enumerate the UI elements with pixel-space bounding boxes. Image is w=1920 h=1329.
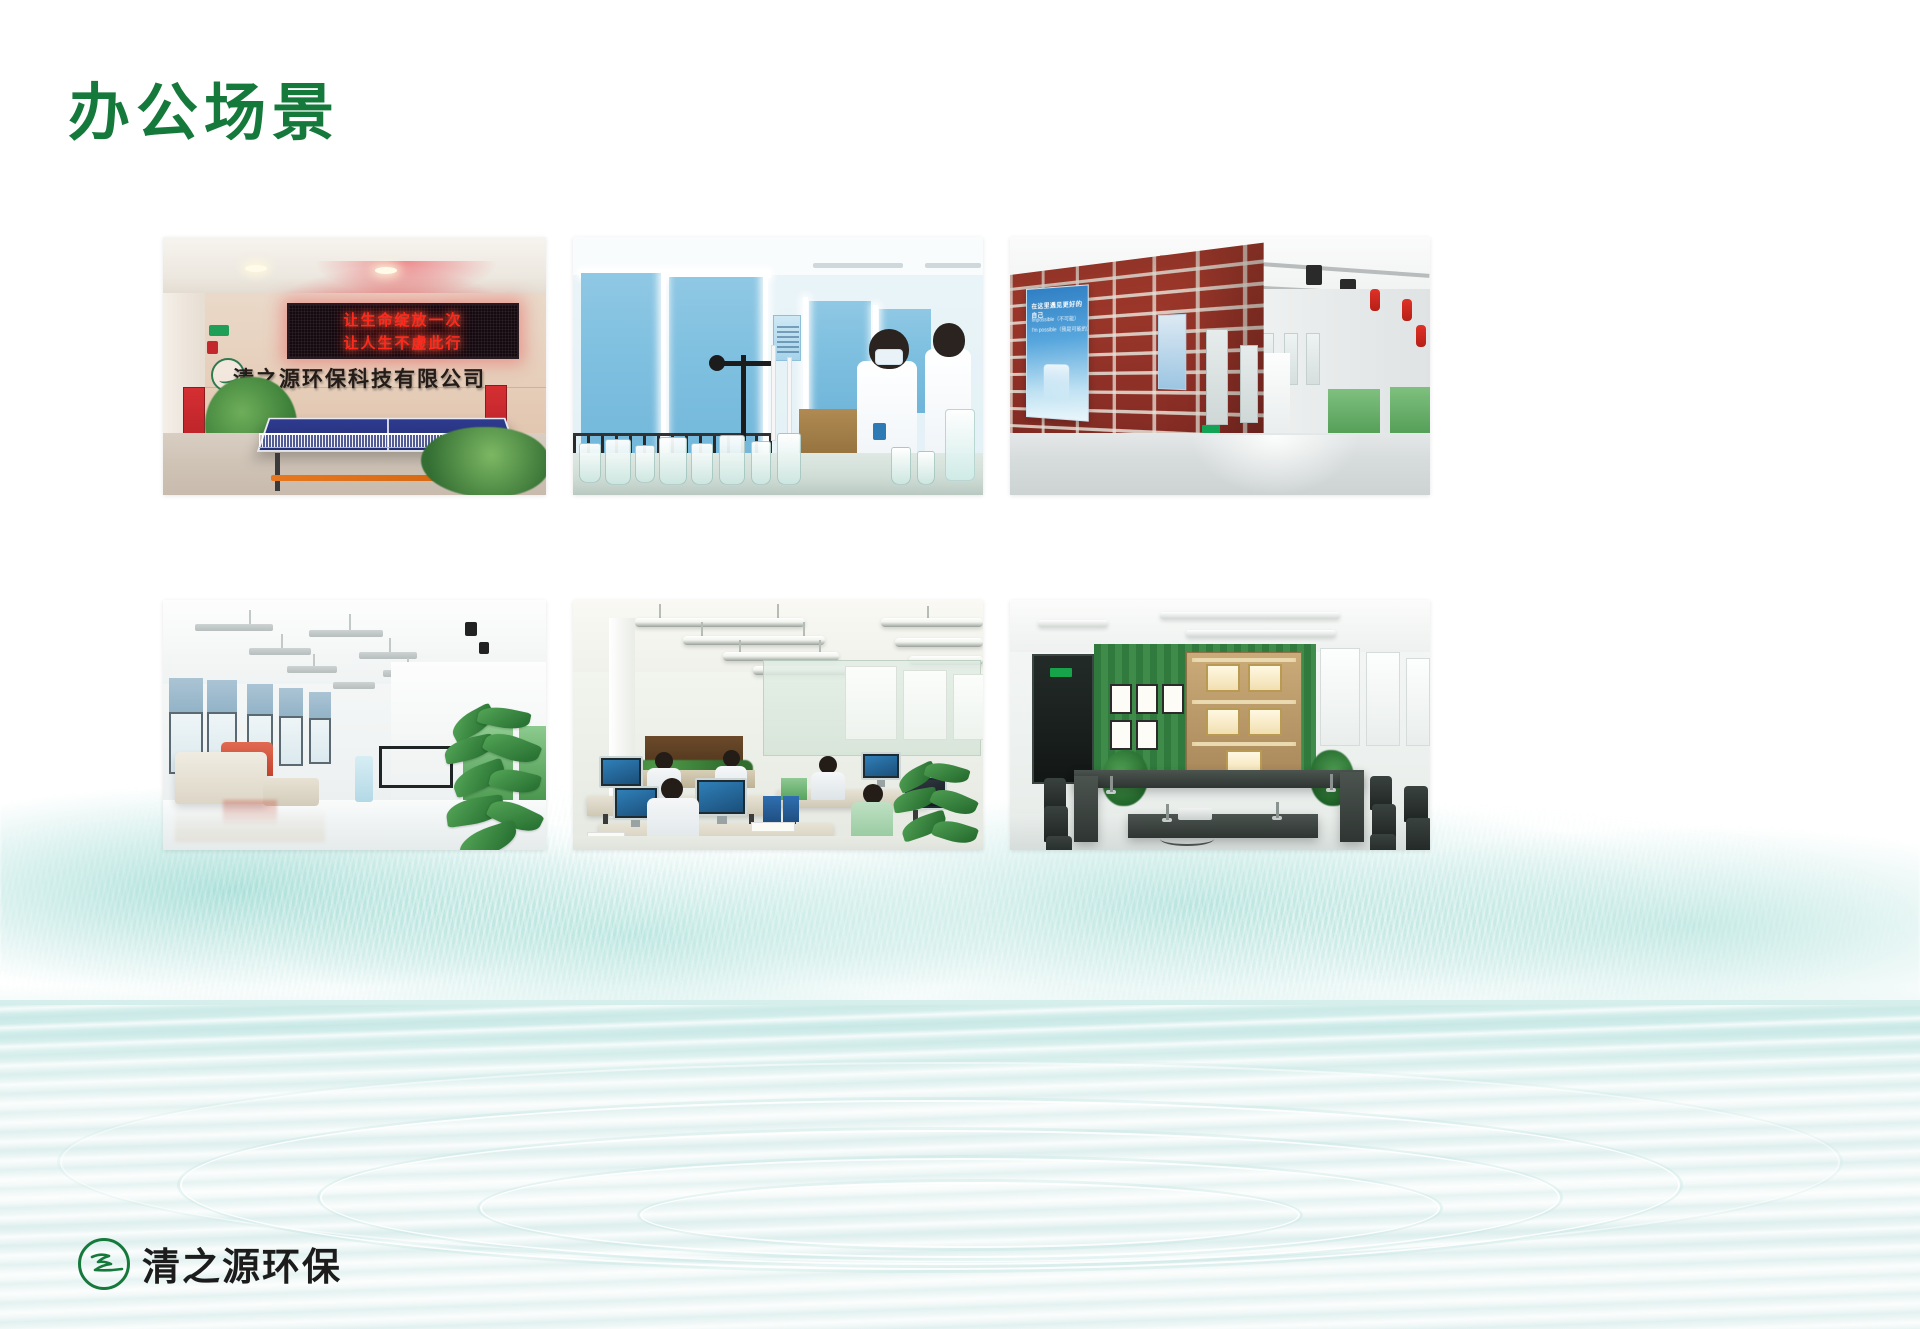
certificate-plaque xyxy=(1248,708,1282,736)
gallery-photo-lobby-led-sign[interactable]: 让生命绽放一次 让人生不虚此行 清之源环保科技有限公司 xyxy=(163,237,546,495)
pendant-light xyxy=(895,638,983,647)
desk-microphone xyxy=(1330,774,1333,790)
retort-stand-pole xyxy=(741,355,746,441)
red-lantern-decor xyxy=(1370,289,1380,311)
exit-sign-icon xyxy=(1050,668,1072,677)
ceiling-light-bar xyxy=(1160,612,1340,619)
lamp-stem xyxy=(739,640,741,652)
office-chair xyxy=(1406,818,1430,850)
id-badge xyxy=(873,423,886,440)
led-line-2: 让人生不虚此行 xyxy=(343,332,462,353)
gallery-photo-conference-room[interactable] xyxy=(1010,600,1430,850)
lab-glassware xyxy=(579,443,601,483)
lab-glassware xyxy=(777,433,801,485)
conference-projector xyxy=(1178,808,1212,820)
file-binder xyxy=(763,796,781,822)
motivational-poster[interactable]: 在这里遇见更好的自己 Impossible（不可能） I'm possible（… xyxy=(1026,284,1089,421)
acoustic-panel xyxy=(287,666,337,673)
photo-gallery-grid: 让生命绽放一次 让人生不虚此行 清之源环保科技有限公司 xyxy=(163,237,1446,850)
conference-window xyxy=(1366,652,1400,746)
office-window xyxy=(903,670,947,740)
face-mask-icon xyxy=(875,349,903,365)
lab-white-rod xyxy=(787,357,792,441)
poster-figure xyxy=(1044,364,1069,400)
acoustic-panel xyxy=(249,648,311,655)
person-head xyxy=(723,750,740,767)
poster-line-2: I'm possible（我是可能的） xyxy=(1032,325,1089,334)
large-potted-plant xyxy=(442,708,546,850)
ceiling-downlight-icon xyxy=(375,267,397,274)
track-spotlight-icon xyxy=(479,642,489,654)
led-scrolling-sign: 让生命绽放一次 让人生不虚此行 xyxy=(287,303,519,359)
desk-microphone xyxy=(1276,802,1279,818)
framed-certificate xyxy=(1110,720,1132,750)
corridor-door xyxy=(1240,345,1258,423)
lab-glassware xyxy=(691,443,713,485)
computer-monitor-front xyxy=(695,778,747,816)
red-lantern-decor xyxy=(1402,299,1412,321)
table-leg xyxy=(275,453,280,491)
potted-plant xyxy=(421,427,546,495)
lamp-stem xyxy=(659,604,661,618)
poster-line-1: Impossible（不可能） xyxy=(1032,315,1080,324)
lamp-stem xyxy=(927,606,929,618)
framed-certificate xyxy=(1136,720,1158,750)
lab-glassware xyxy=(751,441,771,485)
lamp-stem xyxy=(777,604,779,618)
water-dispenser xyxy=(355,756,373,802)
lab-notice-poster xyxy=(773,315,801,361)
computer-monitor xyxy=(599,756,643,788)
ceiling-light-bar xyxy=(1038,620,1108,627)
person-head xyxy=(933,323,965,357)
cabinet-shelf xyxy=(1192,700,1296,704)
floor-cable xyxy=(1160,832,1214,846)
exit-sign-icon xyxy=(1202,425,1220,433)
corridor-window xyxy=(279,716,303,766)
company-circle-swoosh-logo-icon xyxy=(78,1238,130,1290)
pendant-light xyxy=(881,618,983,627)
lab-glassware xyxy=(891,447,911,485)
certificate-plaque xyxy=(1206,664,1240,692)
lab-glassware xyxy=(659,437,687,485)
panel-stem xyxy=(249,610,251,624)
track-spotlight-icon xyxy=(465,622,477,636)
logo-ring xyxy=(78,1238,130,1290)
person-head-front xyxy=(661,778,683,800)
lamp-stem xyxy=(701,622,703,636)
ceiling-light-bar xyxy=(1186,630,1336,637)
ripple-ring-4 xyxy=(640,1182,1300,1248)
desk-microphone xyxy=(1110,776,1113,792)
window-blind xyxy=(207,680,237,712)
gallery-photo-office-corridor-lounge[interactable] xyxy=(163,600,546,850)
lab-glassware xyxy=(635,445,655,483)
paper-stack xyxy=(751,822,795,832)
led-line-1: 让生命绽放一次 xyxy=(343,309,462,330)
conference-table-left xyxy=(1074,776,1098,842)
monitor-stand xyxy=(717,816,727,824)
ceiling-light-tube xyxy=(813,263,903,268)
footer-company-logo: 清之源环保 xyxy=(78,1236,342,1291)
lamp-stem xyxy=(803,622,805,636)
page-title: 办公场景 xyxy=(68,82,340,144)
office-chair xyxy=(1404,786,1428,822)
office-chair xyxy=(1046,836,1072,850)
ceiling-light-tube xyxy=(925,263,981,268)
conference-table-far xyxy=(1074,770,1364,788)
window-blind xyxy=(309,692,331,718)
conference-table-near xyxy=(1128,814,1318,838)
panel-stem xyxy=(281,634,283,648)
gallery-photo-brick-corridor[interactable]: 在这里遇见更好的自己 Impossible（不可能） I'm possible（… xyxy=(1010,237,1430,495)
ceiling-downlight-icon xyxy=(245,265,267,272)
corridor-window xyxy=(309,718,331,764)
acoustic-panel xyxy=(333,682,375,689)
red-lantern-decor xyxy=(1416,325,1426,347)
acoustic-panel xyxy=(309,630,383,637)
certificate-plaque xyxy=(1248,664,1282,692)
lamp-stem xyxy=(819,640,821,652)
wall-poster-secondary xyxy=(1158,314,1186,390)
office-window xyxy=(953,674,983,740)
company-name: 清之源环保 xyxy=(142,1236,342,1291)
lounge-sofa xyxy=(175,752,267,804)
panel-stem xyxy=(349,614,351,630)
gallery-photo-laboratory[interactable] xyxy=(573,237,983,495)
window-blind xyxy=(247,684,273,714)
lab-glassware xyxy=(605,439,631,485)
certificate-plaque xyxy=(1206,708,1240,736)
framed-certificate xyxy=(1162,684,1184,714)
window-blind xyxy=(169,678,203,712)
panel-stem xyxy=(389,638,391,652)
lab-glassware xyxy=(719,435,745,485)
floor-reflection xyxy=(223,800,277,830)
framed-certificate xyxy=(1136,684,1158,714)
ceiling-spotlight-icon xyxy=(1306,265,1322,285)
blind-divider xyxy=(803,297,808,425)
exit-sign-icon xyxy=(209,325,229,336)
fire-alarm-icon xyxy=(207,341,218,354)
monitor-stand xyxy=(631,820,640,827)
conference-window xyxy=(1406,658,1430,746)
file-binder xyxy=(783,796,799,822)
window-blind xyxy=(279,688,303,716)
corridor-window xyxy=(1306,333,1320,385)
desk-microphone xyxy=(1166,804,1169,820)
cabinet-shelf xyxy=(1192,658,1296,662)
lab-glassware xyxy=(917,451,935,485)
lab-white-rod xyxy=(771,345,776,441)
conference-table-right xyxy=(1340,772,1364,842)
office-plant xyxy=(893,764,981,850)
framed-certificate xyxy=(1110,684,1132,714)
panel-stem xyxy=(313,654,315,666)
acoustic-panel xyxy=(195,624,273,631)
corridor-door xyxy=(1206,329,1228,425)
floor-light-reflection xyxy=(1190,435,1360,495)
person-head xyxy=(863,784,883,804)
pendant-light xyxy=(635,618,805,627)
person-body xyxy=(811,772,845,800)
office-window xyxy=(845,666,897,740)
office-chair xyxy=(1370,834,1396,850)
gallery-photo-open-office[interactable] xyxy=(573,600,983,850)
reagent-bottle xyxy=(945,409,975,481)
pendant-light xyxy=(683,636,825,645)
conference-window xyxy=(1320,648,1360,746)
cabinet-shelf xyxy=(1192,742,1296,746)
